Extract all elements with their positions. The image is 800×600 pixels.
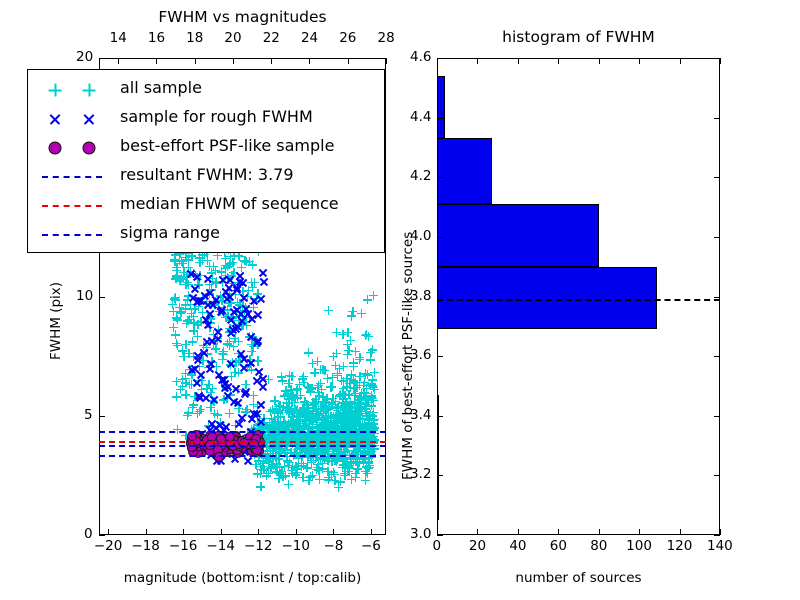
resultant-fwhm-line (99, 445, 386, 447)
left-xtick-bottom: −14 (206, 538, 235, 554)
tickmark (477, 58, 478, 64)
left-xtick-bottom: −8 (323, 538, 343, 554)
tickmark (437, 475, 443, 476)
tickmark (558, 529, 559, 535)
cross-icon (83, 113, 96, 126)
left-xtick-bottom: −12 (244, 538, 273, 554)
sigma-lower-line (99, 455, 386, 457)
tickmark (680, 58, 681, 64)
tickmark (714, 58, 720, 59)
legend-marker-plus-icon (42, 76, 68, 104)
right-xtick: 0 (433, 538, 442, 554)
legend-label: sigma range (120, 223, 220, 242)
left-xtick-top: 20 (224, 30, 241, 46)
sigma-upper-line (99, 431, 386, 433)
legend-line-sample (42, 176, 102, 178)
tickmark (437, 58, 443, 59)
tickmark (437, 118, 443, 119)
legend-label: best-effort PSF-like sample (120, 136, 334, 155)
figure-canvas: FWHM vs magnitudes 1416182022242628 −20−… (0, 0, 800, 600)
tickmark (714, 297, 720, 298)
legend-item: resultant FWHM: 3.79 (28, 163, 384, 191)
tickmark (720, 529, 721, 535)
left-xtick-bottom: −20 (94, 538, 123, 554)
tickmark (437, 177, 443, 178)
right-xtick: 120 (667, 538, 693, 554)
tickmark (477, 529, 478, 535)
tickmark (99, 535, 105, 536)
legend-marker-dot-icon (42, 134, 68, 162)
tickmark (714, 177, 720, 178)
tickmark (518, 529, 519, 535)
left-yaxis-label: FWHM (pix) (48, 282, 64, 360)
right-ytick: 4.4 (410, 109, 431, 125)
tickmark (558, 58, 559, 64)
legend-item: best-effort PSF-like sample (28, 134, 384, 162)
left-ytick: 0 (84, 526, 93, 542)
left-xtick-top: 24 (301, 30, 318, 46)
right-panel-title: histogram of FWHM (437, 28, 720, 46)
tickmark (714, 356, 720, 357)
right-xtick: 40 (509, 538, 526, 554)
legend-item: all sample (28, 76, 384, 104)
tickmark (714, 475, 720, 476)
tickmark (437, 297, 443, 298)
left-xtick-top: 28 (378, 30, 395, 46)
left-ytick: 20 (76, 49, 93, 65)
legend-line-sample (42, 234, 102, 236)
right-ytick: 4.6 (410, 49, 431, 65)
tickmark (714, 535, 720, 536)
right-xtick: 140 (707, 538, 733, 554)
tickmark (518, 58, 519, 64)
tickmark (714, 237, 720, 238)
tickmark (386, 58, 387, 64)
tickmark (599, 58, 600, 64)
legend-item: sigma range (28, 221, 384, 249)
left-ytick: 5 (84, 407, 93, 423)
right-xtick: 80 (590, 538, 607, 554)
legend-item: sample for rough FWHM (28, 105, 384, 133)
left-ytick: 10 (76, 288, 93, 304)
tickmark (599, 529, 600, 535)
tickmark (639, 58, 640, 64)
legend-marker-cross-icon (76, 105, 102, 133)
left-xtick-top: 18 (186, 30, 203, 46)
legend-label: resultant FWHM: 3.79 (120, 165, 294, 184)
legend-marker-plus-icon (76, 76, 102, 104)
histogram-fwhm-line (437, 58, 720, 535)
tickmark (680, 529, 681, 535)
left-panel-title: FWHM vs magnitudes (99, 8, 386, 26)
tickmark (720, 58, 721, 64)
tickmark (437, 356, 443, 357)
legend-marker-dot-icon (76, 134, 102, 162)
dot-icon (83, 142, 96, 155)
left-xtick-bottom: −16 (169, 538, 198, 554)
cross-icon (49, 113, 62, 126)
tickmark (437, 237, 443, 238)
left-xaxis-label: magnitude (bottom:isnt / top:calib) (99, 570, 386, 586)
tickmark (437, 535, 443, 536)
right-ytick: 3.0 (410, 526, 431, 542)
tickmark (639, 529, 640, 535)
plus-icon (49, 84, 62, 97)
dot-icon (49, 142, 62, 155)
left-xtick-top: 14 (110, 30, 127, 46)
tickmark (437, 416, 443, 417)
histogram-resultant-fwhm-line (437, 299, 720, 301)
legend-label: median FHWM of sequence (120, 194, 339, 213)
legend-label: sample for rough FWHM (120, 107, 313, 126)
tickmark (714, 118, 720, 119)
right-yaxis-label: FWHM of best-effort PSF-like sources (400, 232, 416, 480)
legend-box: all samplesample for rough FWHMbest-effo… (27, 69, 385, 253)
right-xtick: 20 (469, 538, 486, 554)
legend-item: median FHWM of sequence (28, 192, 384, 220)
left-xtick-bottom: −10 (281, 538, 310, 554)
right-xaxis-label: number of sources (437, 570, 720, 586)
left-xtick-top: 22 (263, 30, 280, 46)
right-ytick: 4.2 (410, 168, 431, 184)
median-fwhm-line (99, 441, 386, 443)
tickmark (714, 416, 720, 417)
right-xtick: 100 (626, 538, 652, 554)
legend-label: all sample (120, 78, 202, 97)
plus-icon (83, 84, 96, 97)
left-xtick-bottom: −6 (361, 538, 381, 554)
right-xtick: 60 (550, 538, 567, 554)
legend-line-sample (42, 205, 102, 207)
left-xtick-top: 16 (148, 30, 165, 46)
legend-marker-cross-icon (42, 105, 68, 133)
left-xtick-bottom: −18 (131, 538, 160, 554)
left-xtick-top: 26 (339, 30, 356, 46)
